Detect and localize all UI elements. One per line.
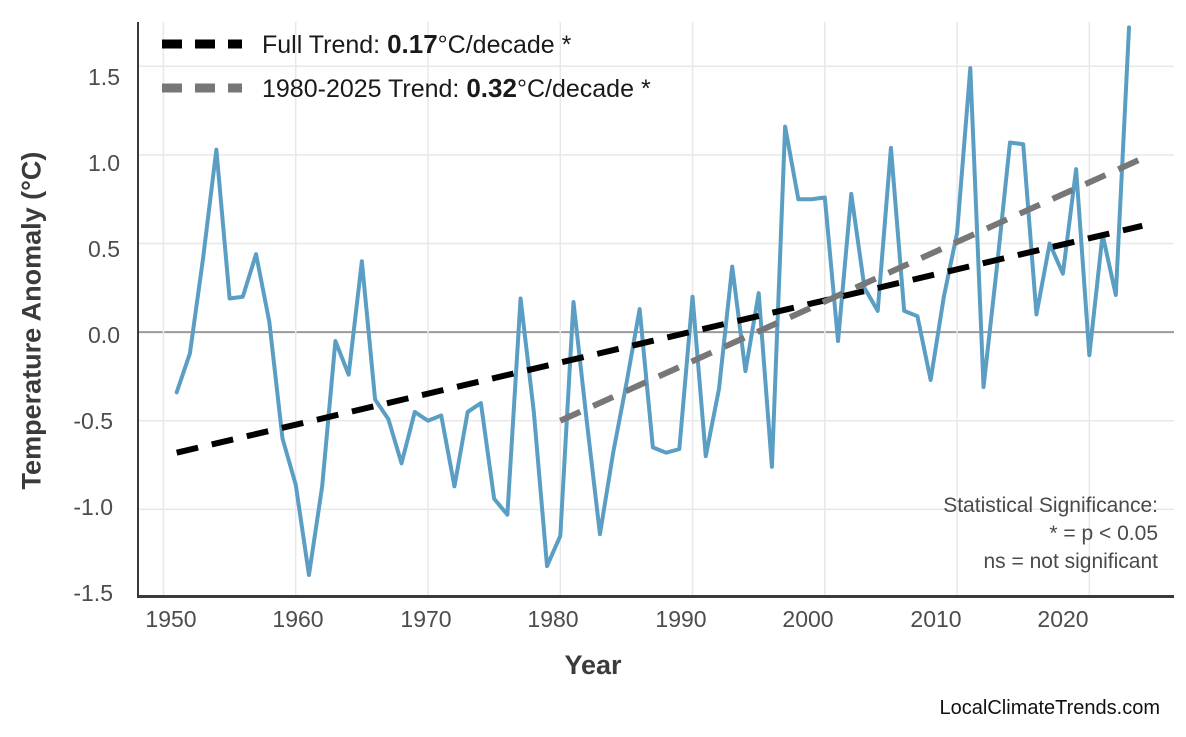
full-trend-significance: *	[562, 31, 572, 59]
full-trend-name: Full Trend:	[262, 31, 380, 59]
y-tick-label: -0.5	[33, 408, 113, 435]
y-tick-label: 0.0	[40, 322, 120, 349]
recent-trend-value: 0.32	[466, 73, 517, 103]
significance-note: Statistical Significance: * = p < 0.05 n…	[943, 492, 1158, 576]
x-tick-label: 1990	[636, 606, 726, 633]
legend-label-full-trend: Full Trend: 0.17°C/decade *	[262, 29, 571, 60]
full-trend-line	[177, 226, 1143, 453]
x-tick-label: 1950	[126, 606, 216, 633]
x-tick-label: 1980	[508, 606, 598, 633]
x-tick-label: 1960	[253, 606, 343, 633]
significance-ns: ns = not significant	[943, 548, 1158, 576]
x-axis-label: Year	[0, 650, 1186, 681]
y-tick-label: 1.0	[40, 150, 120, 177]
recent-trend-unit: °C/decade	[517, 75, 634, 103]
full-trend-value: 0.17	[387, 29, 438, 59]
y-tick-label: 0.5	[40, 236, 120, 263]
source-watermark: LocalClimateTrends.com	[940, 697, 1160, 720]
recent-trend-swatch	[160, 66, 244, 110]
significance-star: * = p < 0.05	[943, 520, 1158, 548]
full-trend-unit: °C/decade	[438, 31, 555, 59]
recent-trend-significance: *	[641, 75, 651, 103]
x-tick-label: 2020	[1018, 606, 1108, 633]
x-tick-label: 2010	[891, 606, 981, 633]
x-tick-label: 2000	[763, 606, 853, 633]
legend: Full Trend: 0.17°C/decade * 1980-2025 Tr…	[160, 22, 651, 110]
y-tick-label: -1.0	[33, 494, 113, 521]
full-trend-swatch	[160, 22, 244, 66]
legend-item-recent-trend: 1980-2025 Trend: 0.32°C/decade *	[160, 66, 651, 110]
x-tick-label: 1970	[381, 606, 471, 633]
recent-trend-name: 1980-2025 Trend:	[262, 75, 459, 103]
legend-item-full-trend: Full Trend: 0.17°C/decade *	[160, 22, 651, 66]
y-tick-label: 1.5	[40, 64, 120, 91]
significance-heading: Statistical Significance:	[943, 492, 1158, 520]
y-tick-label: -1.5	[33, 580, 113, 607]
legend-label-recent-trend: 1980-2025 Trend: 0.32°C/decade *	[262, 73, 651, 104]
